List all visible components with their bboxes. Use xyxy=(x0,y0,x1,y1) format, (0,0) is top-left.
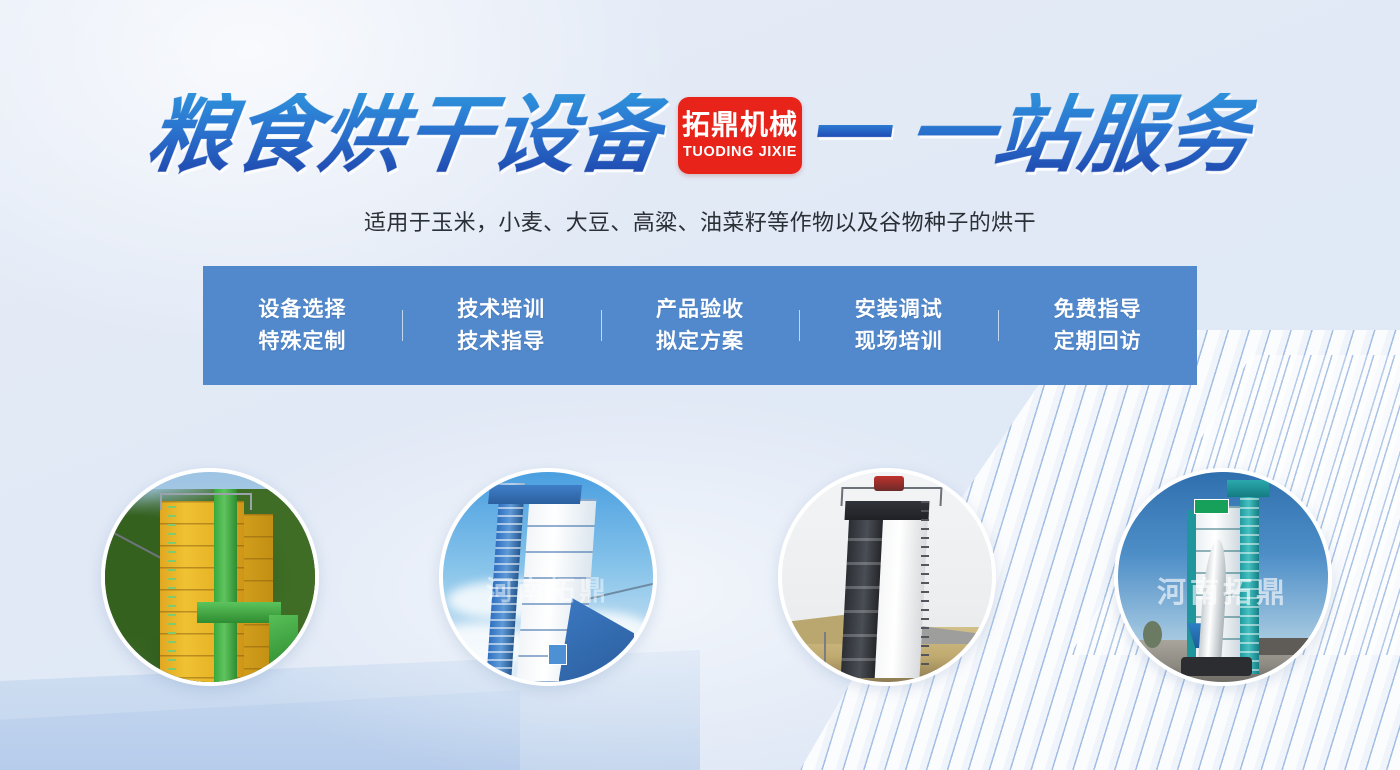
feature-item-3-line1: 产品验收 xyxy=(656,294,744,326)
product-photo-2-image: 河南拓鼎 xyxy=(443,472,653,682)
bottom-swoosh-lower xyxy=(0,690,520,770)
feature-item-1-line2: 特殊定制 xyxy=(258,326,346,358)
subtitle: 适用于玉米，小麦、大豆、高粱、油菜籽等作物以及谷物种子的烘干 xyxy=(0,205,1400,237)
brand-name-english: TUODING JIXIE xyxy=(683,144,797,160)
feature-item-5[interactable]: 免费指导 定期回访 xyxy=(998,294,1197,357)
product-photo-4-image: 河南拓鼎 xyxy=(1118,472,1328,682)
promo-banner: 粮食烘干设备 拓鼎机械 TUODING JIXIE 一站服务 适用于玉米，小麦、… xyxy=(0,0,1400,770)
product-photo-2-watermark: 河南拓鼎 xyxy=(443,569,653,608)
product-photo-4[interactable]: 河南拓鼎 xyxy=(1114,468,1332,686)
headline: 粮食烘干设备 拓鼎机械 TUODING JIXIE 一站服务 xyxy=(0,80,1400,190)
product-photo-1[interactable] xyxy=(101,468,319,686)
feature-item-5-line2: 定期回访 xyxy=(1054,326,1142,358)
feature-item-3[interactable]: 产品验收 拟定方案 xyxy=(601,294,800,357)
feature-item-5-line1: 免费指导 xyxy=(1054,294,1142,326)
product-photo-3-image xyxy=(782,472,992,682)
headline-part-1: 粮食烘干设备 xyxy=(142,93,670,178)
feature-item-4-line1: 安装调试 xyxy=(855,294,943,326)
feature-item-2-line1: 技术培训 xyxy=(457,294,545,326)
service-feature-bar: 设备选择 特殊定制 技术培训 技术指导 产品验收 拟定方案 安装调试 现场培训 … xyxy=(203,266,1197,385)
feature-item-3-line2: 拟定方案 xyxy=(656,326,744,358)
product-photo-1-image xyxy=(105,472,315,682)
product-photo-4-watermark: 河南拓鼎 xyxy=(1118,569,1328,611)
headline-part-2: 一站服务 xyxy=(902,93,1258,178)
feature-item-1[interactable]: 设备选择 特殊定制 xyxy=(203,294,402,357)
feature-item-4[interactable]: 安装调试 现场培训 xyxy=(799,294,998,357)
feature-item-2-line2: 技术指导 xyxy=(457,326,545,358)
feature-item-4-line2: 现场培训 xyxy=(855,326,943,358)
feature-item-2[interactable]: 技术培训 技术指导 xyxy=(402,294,601,357)
brand-name-chinese: 拓鼎机械 xyxy=(682,110,798,139)
brand-logo-badge: 拓鼎机械 TUODING JIXIE xyxy=(678,97,802,174)
long-dash-icon xyxy=(817,125,893,137)
feature-item-1-line1: 设备选择 xyxy=(258,294,346,326)
product-photo-3[interactable] xyxy=(778,468,996,686)
product-photo-2[interactable]: 河南拓鼎 xyxy=(439,468,657,686)
